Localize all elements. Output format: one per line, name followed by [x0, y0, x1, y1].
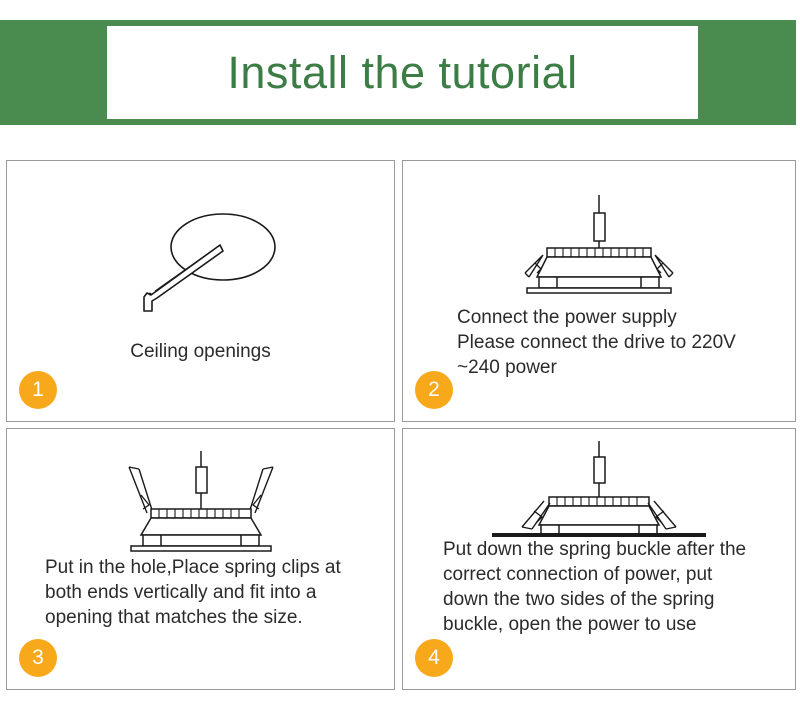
step-badge-3: 3 — [19, 639, 57, 677]
figure-downlight-installed — [403, 441, 795, 546]
step-caption-1: Ceiling openings — [7, 339, 394, 364]
step-caption-3: Put in the hole,Place spring clips at bo… — [45, 555, 384, 630]
step-badge-4: 4 — [415, 639, 453, 677]
step-badge-1: 1 — [19, 371, 57, 409]
header-title-box: Install the tutorial — [107, 26, 698, 119]
step-panel-1: Ceiling openings 1 — [6, 160, 395, 422]
page-title: Install the tutorial — [227, 50, 577, 95]
figure-downlight-clips-raised — [7, 451, 394, 556]
step-badge-2: 2 — [415, 371, 453, 409]
step-panel-3: Put in the hole,Place spring clips at bo… — [6, 428, 395, 690]
header-band: Install the tutorial — [0, 20, 796, 125]
hole-saw-icon — [111, 205, 291, 320]
downlight-mounted-icon — [484, 441, 714, 546]
downlight-diagram-icon — [499, 193, 699, 298]
step-caption-2: Connect the power supply Please connect … — [457, 305, 783, 380]
figure-downlight-clips-folded — [403, 193, 795, 298]
step-panel-2: Connect the power supply Please connect … — [402, 160, 796, 422]
figure-ceiling-opening — [7, 205, 394, 320]
downlight-springclips-icon — [101, 451, 301, 556]
steps-grid: Ceiling openings 1 — [6, 160, 796, 692]
step-caption-4: Put down the spring buckle after the cor… — [443, 537, 787, 637]
step-panel-4: Put down the spring buckle after the cor… — [402, 428, 796, 690]
